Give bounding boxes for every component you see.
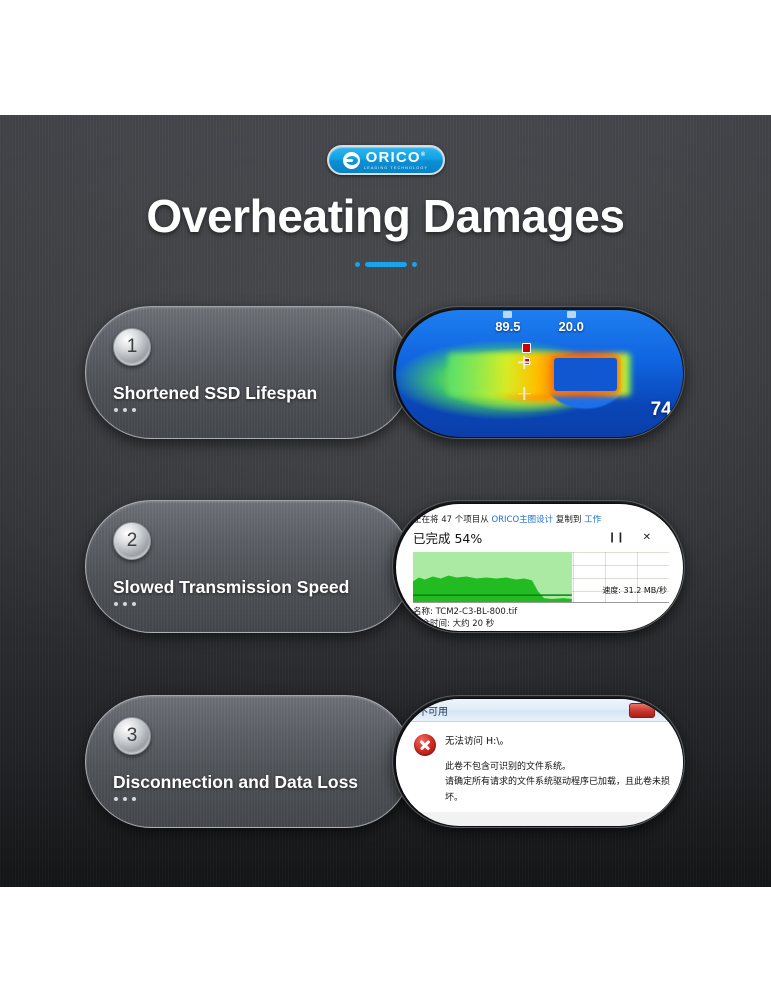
thermal-readout-max: 89.5	[495, 311, 520, 333]
transfer-headline-prefix: 正在将 47 个项目从	[413, 515, 489, 525]
error-x-icon	[414, 734, 436, 756]
error-message: 无法访问 H:\。	[445, 733, 671, 747]
transfer-headline: 正在将 47 个项目从 ORICO主图设计 复制到 工作	[413, 513, 669, 525]
step-badge-3: 3	[113, 717, 151, 755]
feature-title-3: Disconnection and Data Loss	[113, 772, 358, 793]
pause-button[interactable]: ❙❙	[608, 532, 625, 543]
transfer-speed-graph: 速度: 31.2 MB/秒	[413, 552, 669, 603]
transfer-destination-link[interactable]: 工作	[584, 515, 601, 525]
step-badge-1: 1	[113, 328, 151, 366]
feature-title-1: Shortened SSD Lifespan	[113, 383, 317, 404]
dark-panel: ORICO® LEADING TECHNOLOGY Overheating Da…	[0, 115, 771, 887]
error-detail-line-1: 此卷不包含可识别的文件系统。	[445, 760, 671, 775]
step-badge-2: 2	[113, 522, 151, 560]
error-dialog: 不可用 无法访问 H:\。 此卷不包含可识别的文件系统。 请确定所有请求的文件系…	[396, 699, 683, 826]
transfer-time-remaining: 剩余时间: 大约 20 秒	[413, 618, 669, 630]
logo-text-group: ORICO® LEADING TECHNOLOGY	[364, 150, 428, 171]
brand-logo: ORICO® LEADING TECHNOLOGY	[327, 145, 445, 175]
thermal-max-marker	[522, 343, 531, 353]
feature-dots-3	[114, 797, 136, 801]
error-text-group: 无法访问 H:\。 此卷不包含可识别的文件系统。 请确定所有请求的文件系统驱动程…	[445, 733, 671, 806]
transfer-speed-label: 速度: 31.2 MB/秒	[602, 585, 667, 596]
media-capsule-2: 正在将 47 个项目从 ORICO主图设计 复制到 工作 已完成 54% ❙❙ …	[392, 500, 685, 633]
transfer-dialog-body: 正在将 47 个项目从 ORICO主图设计 复制到 工作 已完成 54% ❙❙ …	[396, 504, 683, 631]
divider-dot-left	[355, 262, 360, 267]
feature-dots-1	[114, 408, 136, 412]
logo-pill: ORICO® LEADING TECHNOLOGY	[327, 145, 445, 175]
error-detail: 此卷不包含可识别的文件系统。 请确定所有请求的文件系统驱动程序已加载，且此卷未损…	[445, 760, 671, 806]
min-temp-icon	[567, 311, 576, 318]
transfer-progress-label: 已完成 54%	[413, 528, 482, 547]
orico-globe-icon	[343, 152, 360, 169]
registered-mark: ®	[421, 152, 427, 158]
thermal-crosshair-cold	[518, 387, 531, 400]
transfer-header-row: 已完成 54% ❙❙ ✕	[413, 528, 669, 547]
error-dialog-title: 不可用	[418, 703, 448, 718]
media-capsule-3: 不可用 无法访问 H:\。 此卷不包含可识别的文件系统。 请确定所有请求的文件系…	[392, 695, 685, 828]
max-temp-icon	[503, 311, 512, 318]
feature-card-2[interactable]: 2 Slowed Transmission Speed	[85, 500, 412, 633]
error-dialog-content: 无法访问 H:\。 此卷不包含可识别的文件系统。 请确定所有请求的文件系统驱动程…	[396, 722, 683, 812]
page-root: ORICO® LEADING TECHNOLOGY Overheating Da…	[0, 0, 771, 1000]
transfer-details: 名称: TCM2-C3-BL-800.tif 剩余时间: 大约 20 秒	[413, 606, 669, 631]
thermal-readouts: 89.5 20.0	[396, 310, 683, 340]
error-detail-line-2: 请确定所有请求的文件系统驱动程序已加载，且此卷未损坏。	[445, 775, 671, 806]
thermal-spot-value: 74.	[651, 399, 677, 421]
feature-title-2: Slowed Transmission Speed	[113, 577, 349, 598]
logo-tagline: LEADING TECHNOLOGY	[364, 167, 428, 171]
file-transfer-dialog: 正在将 47 个项目从 ORICO主图设计 复制到 工作 已完成 54% ❙❙ …	[396, 504, 683, 631]
divider-bar	[365, 262, 407, 267]
feature-row-2: 2 Slowed Transmission Speed 正在将 47 个项目从 …	[85, 500, 685, 633]
media-capsule-1: 89.5 20.0 74.	[392, 306, 685, 439]
transfer-controls: ❙❙ ✕	[608, 532, 669, 543]
close-button[interactable]: ✕	[643, 532, 651, 543]
feature-row-3: 3 Disconnection and Data Loss 不可用 无	[85, 695, 685, 828]
divider-dot-right	[412, 262, 417, 267]
page-title: Overheating Damages	[0, 189, 771, 243]
feature-card-3[interactable]: 3 Disconnection and Data Loss	[85, 695, 412, 828]
thermal-crosshair-hot	[518, 356, 531, 369]
transfer-source-link[interactable]: ORICO主图设计	[491, 515, 553, 525]
feature-row-1: 1 Shortened SSD Lifespan	[85, 306, 685, 439]
thermal-cool-chip	[554, 358, 617, 391]
feature-dots-2	[114, 602, 136, 606]
title-divider	[355, 262, 417, 267]
error-dialog-window: 不可用 无法访问 H:\。 此卷不包含可识别的文件系统。 请确定所有请求的文件系…	[396, 699, 683, 826]
transfer-headline-mid: 复制到	[556, 515, 582, 525]
graph-speed-area	[413, 552, 572, 602]
feature-card-1[interactable]: 1 Shortened SSD Lifespan	[85, 306, 412, 439]
error-dialog-titlebar: 不可用	[396, 699, 683, 722]
thermal-image: 89.5 20.0 74.	[396, 310, 683, 437]
logo-brand-name: ORICO®	[366, 150, 427, 165]
thermal-readout-min: 20.0	[559, 311, 584, 333]
close-icon[interactable]	[629, 703, 655, 718]
transfer-file-name: 名称: TCM2-C3-BL-800.tif	[413, 606, 669, 618]
